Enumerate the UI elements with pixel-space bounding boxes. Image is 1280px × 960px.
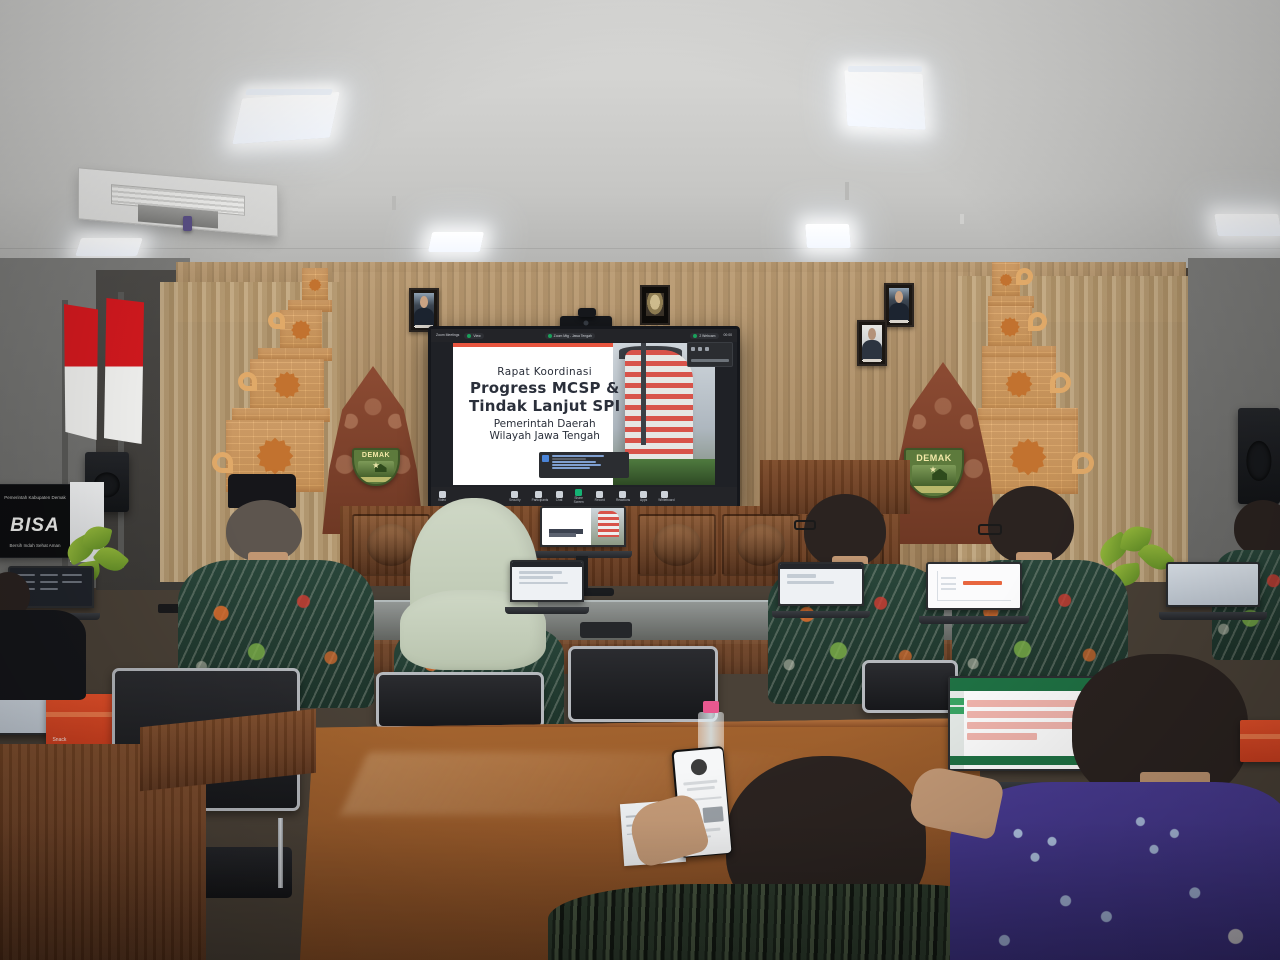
mosque-icon [932, 469, 947, 481]
zoom-button-share-screen[interactable]: Share Screen [574, 489, 584, 505]
scroll-carving-icon [1028, 312, 1047, 331]
ceiling-hook [960, 214, 964, 224]
building-mast [641, 343, 646, 445]
ceiling-light-cap [848, 66, 922, 72]
zoom-topbar: Zoom Meetings View Zoom Mtg - Jawa Tenga… [431, 329, 737, 342]
phone-text-line [687, 786, 715, 791]
laptop-screen [510, 560, 584, 602]
document-screen [780, 564, 862, 604]
ceiling-hook [392, 196, 396, 210]
screen-block [787, 581, 835, 584]
zoom-button-label: Apps [640, 498, 647, 502]
phone-text-line [684, 780, 717, 786]
whiteboard-icon [661, 491, 668, 498]
garuda-icon [646, 293, 665, 316]
chart-gridline [941, 577, 956, 579]
attendee-far-left-black [0, 572, 90, 692]
camera-lens-icon [584, 320, 589, 325]
banner-top-text: Pemerintah Kabupaten Demak [0, 495, 73, 500]
brick-ornament-step [280, 310, 322, 350]
brick-ornament-step [302, 268, 328, 302]
flower-carving-icon [1000, 317, 1020, 337]
brick-ornament-step [982, 357, 1056, 411]
document-screen [512, 562, 582, 600]
laptop-right-two[interactable] [926, 562, 1022, 624]
zoom-meeting-label: Zoom Mtg - Jawa Tengah [554, 334, 592, 338]
demak-emblem-title: DEMAK [906, 453, 962, 463]
phone-image-block [703, 807, 724, 823]
laptop-base [772, 611, 870, 618]
slide-line-1: Rapat Koordinasi [469, 366, 621, 378]
share-screen-icon [575, 489, 582, 496]
laptop-screen [778, 562, 864, 606]
zoom-button-whiteboard[interactable]: Whiteboard [658, 491, 671, 503]
device-box [580, 622, 632, 638]
chart-axis [937, 600, 1011, 601]
chat-line [552, 467, 590, 469]
ceiling-light [232, 92, 340, 145]
chair-leg [278, 818, 283, 888]
head [1234, 500, 1280, 556]
zoom-view-button[interactable]: View [464, 333, 483, 339]
chart-bar [963, 581, 1002, 585]
brick-ornament-step [988, 306, 1032, 348]
attendee-purple-batik [968, 662, 1280, 960]
flower-carving-icon [257, 438, 294, 475]
laptop-display [928, 564, 1020, 608]
flower-carving-icon [309, 279, 322, 292]
scroll-carving-icon [268, 312, 285, 329]
flower-carving-icon [1006, 371, 1033, 398]
participants-icon [693, 334, 697, 338]
more-icon [705, 347, 709, 351]
building-tower [625, 350, 692, 475]
snack-box-band [1240, 734, 1280, 739]
zoom-participants-badge[interactable]: 2 Webcam [690, 333, 718, 339]
thumbnail-name-label [691, 359, 729, 362]
laptop-right-one[interactable] [778, 562, 864, 618]
view-icon [467, 334, 471, 338]
laptop-base [1159, 612, 1266, 620]
zoom-button-label: Reactions [616, 498, 630, 502]
zoom-button-label: Share Screen [574, 496, 584, 504]
zoom-view-label: View [473, 334, 480, 338]
brick-ornament-step [978, 420, 1078, 494]
zoom-button-apps[interactable]: Apps [640, 491, 647, 503]
meeting-active-icon [548, 334, 552, 338]
indonesia-flag [104, 298, 144, 444]
smiley-icon [619, 491, 626, 498]
laptop-screen [1166, 562, 1260, 607]
chart-gridline [941, 583, 956, 585]
camera-icon [698, 347, 702, 351]
portrait-caption [863, 359, 881, 363]
demak-emblem-scene [912, 465, 957, 486]
thumbnail-controls [691, 347, 709, 351]
portrait-vice-president-frame [884, 283, 914, 327]
ceiling-light [1214, 214, 1280, 236]
chat-lines [552, 455, 625, 475]
bottle-cap [703, 701, 720, 713]
demak-emblem-title: DEMAK [354, 452, 398, 459]
glasses-icon [794, 520, 816, 530]
portrait-caption [890, 320, 908, 324]
ceiling-light [75, 238, 143, 256]
laptop-display [512, 562, 582, 600]
participant-thumbnail[interactable] [687, 342, 733, 367]
laptop-display [780, 564, 862, 604]
portrait-body [414, 308, 434, 326]
glasses-icon [978, 524, 1002, 535]
screen-block [519, 571, 562, 574]
brick-ornament-step [250, 359, 324, 411]
chat-line [552, 464, 600, 466]
building-tower-small [598, 511, 619, 537]
demak-emblem-ribbon [910, 486, 957, 493]
ceiling-hook [845, 182, 849, 200]
laptop-far-right[interactable] [1166, 562, 1260, 620]
speaker-cone [1246, 441, 1271, 481]
slide-line-2: Progress MCSP & [469, 379, 621, 397]
zoom-meeting-window[interactable]: Zoom Meetings View Zoom Mtg - Jawa Tenga… [431, 329, 737, 507]
screen-block [519, 582, 568, 585]
credenza-panel [638, 514, 716, 576]
zoom-button-label: Whiteboard [658, 498, 674, 502]
slide-line-3: Tindak Lanjut SPI [469, 397, 621, 415]
scroll-carving-icon [212, 452, 233, 473]
chair-back [376, 672, 544, 729]
laptop-screen [926, 562, 1022, 610]
spreadsheet-green-cell [950, 707, 964, 714]
zoom-timer: 00:00 [724, 334, 733, 338]
participants-count-label: 2 Webcam [699, 334, 715, 338]
credenza-panel-oval [653, 524, 700, 566]
chat-line [552, 455, 603, 457]
avatar [542, 455, 549, 462]
apps-icon [640, 491, 647, 498]
snack-box-label: Snack [52, 737, 66, 743]
chart-gridline [941, 588, 956, 590]
wall-tv: Zoom Meetings View Zoom Mtg - Jawa Tenga… [428, 326, 740, 510]
scroll-carving-icon [1016, 268, 1033, 285]
portrait-head [895, 291, 903, 303]
indonesia-flag [64, 304, 98, 440]
demak-emblem-right: DEMAK [904, 448, 964, 498]
ceiling-light [805, 224, 851, 248]
chart-screen [928, 564, 1020, 608]
chart-axis [937, 571, 938, 601]
snack-box [1240, 720, 1280, 762]
ceiling-light-cap [245, 89, 333, 95]
chair-back [568, 646, 718, 722]
spreadsheet-green-cell [950, 698, 964, 705]
torso [0, 610, 86, 700]
chair-back [862, 660, 958, 713]
zoom-app-label: Zoom Meetings [436, 334, 459, 338]
chat-line [552, 461, 596, 463]
zoom-chat-overlay[interactable] [539, 452, 628, 478]
ceiling-light [428, 232, 484, 252]
screen-titlebar [780, 564, 862, 569]
zoom-button-reactions[interactable]: Reactions [616, 491, 629, 503]
app-logo-icon [690, 758, 707, 775]
portrait-head [420, 296, 428, 308]
zoom-button-label: Record [595, 498, 605, 502]
screen-titlebar [512, 562, 582, 567]
screen-block [519, 576, 553, 579]
laptop-base [505, 607, 589, 614]
camera-head [578, 308, 596, 317]
presentation-slide: Rapat Koordinasi Progress MCSP & Tindak … [453, 343, 715, 485]
portrait-body [862, 340, 882, 359]
ceiling-seam [0, 248, 1280, 249]
zoom-button-record[interactable]: Record [595, 491, 605, 503]
chat-line [552, 458, 586, 460]
torso-striped [548, 884, 1018, 960]
ceiling-light [844, 70, 925, 130]
wall-speaker [1238, 408, 1280, 504]
mic-icon [691, 347, 695, 351]
ac-sensor-icon [183, 216, 192, 231]
slide-line-5: Wilayah Jawa Tengah [469, 430, 621, 442]
flower-carving-icon [1000, 274, 1013, 287]
scroll-carving-icon [238, 372, 257, 391]
slide-line-4: Pemerintah Daerah [469, 418, 621, 430]
laptop-display [1168, 564, 1258, 605]
scroll-carving-icon [1050, 372, 1071, 393]
laptop-base [919, 616, 1028, 624]
flower-carving-icon [274, 372, 301, 399]
flower-carving-icon [291, 320, 311, 340]
flower-carving-icon [1010, 439, 1047, 476]
scroll-carving-icon [1072, 452, 1094, 474]
zoom-meeting-title: Zoom Mtg - Jawa Tengah [545, 333, 595, 339]
record-icon [596, 491, 603, 498]
plain-screen [1168, 564, 1258, 605]
slide-text-block: Rapat Koordinasi Progress MCSP & Tindak … [469, 366, 621, 442]
garuda-emblem-frame [640, 285, 670, 325]
screen-block [787, 574, 817, 578]
laptop-hijab[interactable] [510, 560, 584, 614]
portrait-body [889, 303, 909, 321]
meeting-room-photo: DEMAK DEMAK Zoom Meetings View [0, 0, 1280, 960]
portrait-regional-head-frame [857, 320, 887, 366]
